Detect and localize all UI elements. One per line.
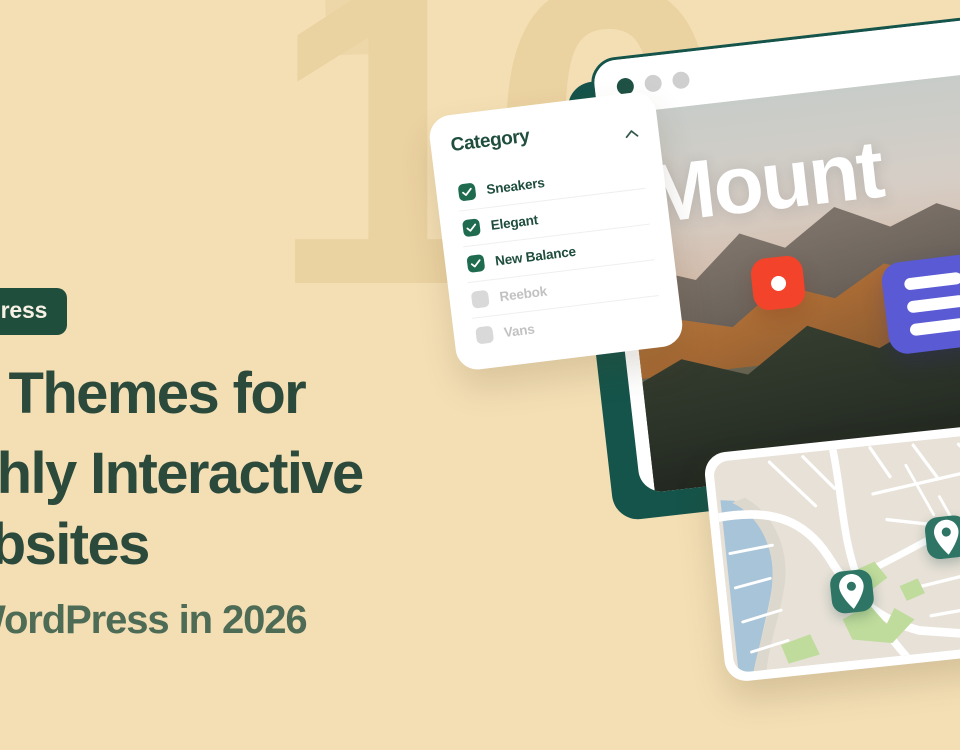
category-option-label: Elegant [490,212,539,233]
menu-bar-1 [904,272,960,291]
map-pin-1[interactable] [829,568,875,614]
category-option-label: New Balance [494,244,576,269]
banner-stage: 10 Mount [0,0,960,750]
location-pin-icon [829,568,875,614]
checkbox-checked-icon[interactable] [462,218,481,237]
record-inner-dot [770,275,786,291]
category-card-title: Category [450,126,531,157]
headline-block: WordPress 10Themes for Highly Interactiv… [0,288,508,643]
headline-line-1: Themes for [9,361,306,426]
hamburger-menu-icon[interactable] [880,252,960,356]
headline-line-3-row: Websites [0,509,508,580]
map-pin-2[interactable] [924,514,960,560]
headline-line-3: Websites [0,512,149,577]
checkbox-checked-icon[interactable] [466,254,485,273]
map-card[interactable] [703,423,960,683]
page-title: 10Themes for [0,358,508,438]
category-option-label: Sneakers [486,175,546,197]
map-canvas[interactable] [713,433,960,673]
map-graphic [713,433,960,673]
chevron-up-icon[interactable] [624,126,639,141]
category-card-header: Category [450,112,640,162]
minimize-dot-icon[interactable] [644,73,663,92]
record-dot-icon[interactable] [749,254,806,311]
menu-bar-3 [909,317,960,336]
location-pin-icon [924,514,960,560]
checkbox-checked-icon[interactable] [458,183,477,202]
page-subtitle: for WordPress in 2026 [0,598,508,643]
platform-tag-badge: WordPress [0,288,67,335]
maximize-dot-icon[interactable] [672,70,691,89]
headline-line-2-row: Highly Interactive [0,438,508,509]
headline-line-2: Highly Interactive [0,441,363,506]
menu-bar-2 [906,295,960,314]
